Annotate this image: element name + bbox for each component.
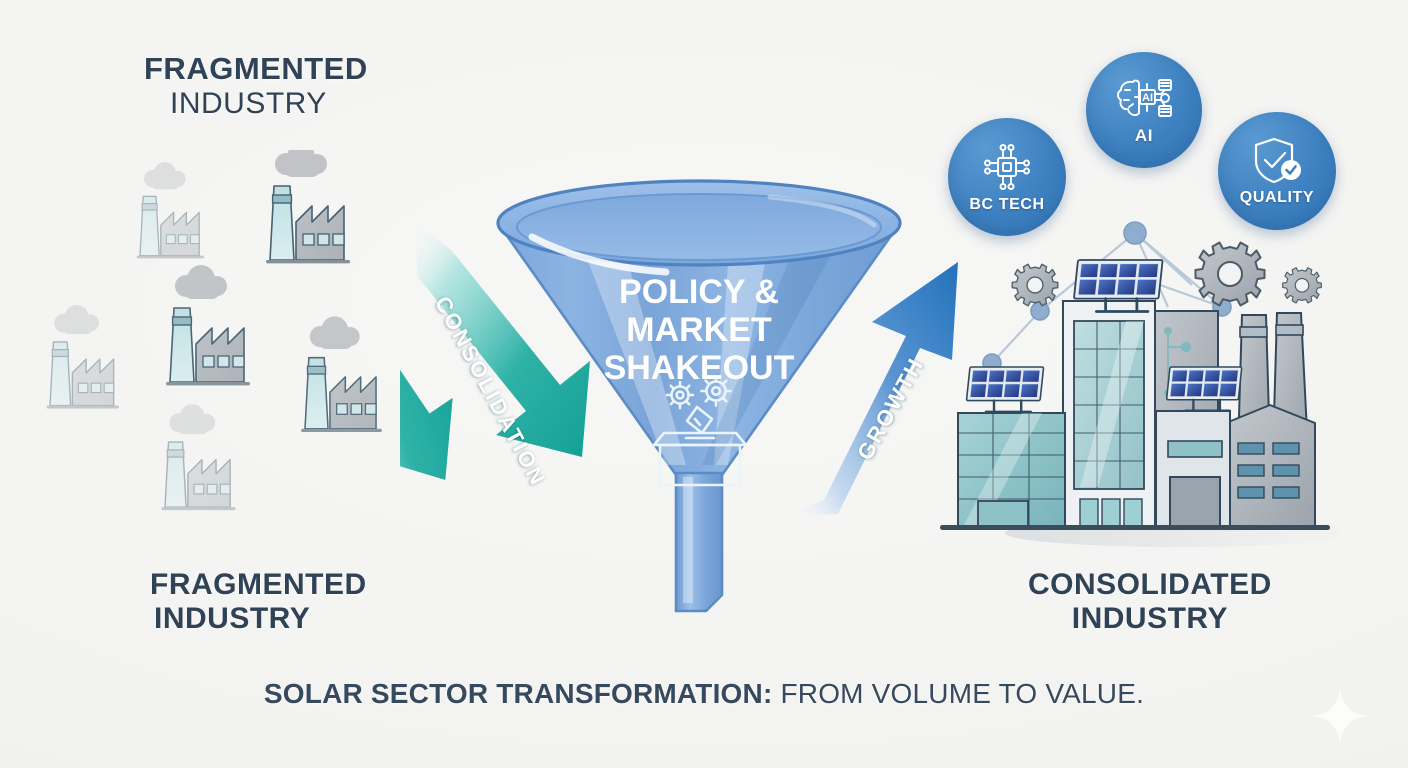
brain-ai-chip-icon: AI [1115,74,1173,124]
title-line-1: FRAGMENTED [144,52,368,87]
gear-icon [1283,268,1322,303]
gear-icon [1012,264,1058,306]
label-line-2: INDUSTRY [150,602,367,636]
badge-bc-tech[interactable]: BC TECH [948,118,1066,236]
badge-label: BC TECH [969,196,1044,214]
page-title-top-left: FRAGMENTED INDUSTRY [144,52,368,120]
title-line-2: INDUSTRY [144,87,368,121]
caption: SOLAR SECTOR TRANSFORMATION: FROM VOLUME… [0,678,1408,710]
four-point-sparkle [1310,686,1370,746]
label-fragmented-industry: FRAGMENTED INDUSTRY [150,568,367,635]
shield-check-icon [1250,135,1304,187]
badge-ai[interactable]: AI AI [1086,52,1202,168]
label-line-1: CONSOLIDATED [1028,568,1272,602]
factory-icon [161,404,235,510]
factory-icon [266,150,350,263]
svg-text:MARKET: MARKET [626,311,772,349]
badge-label: AI [1135,126,1153,146]
svg-text:AI: AI [1142,92,1153,104]
label-consolidated-industry: CONSOLIDATED INDUSTRY [1028,568,1272,635]
microchip-circuit-icon [981,141,1033,193]
infographic-canvas: CONSOLIDATION GROWTH [0,0,1408,768]
factory-icon [137,162,204,258]
svg-text:POLICY &: POLICY & [619,273,779,311]
badge-label: QUALITY [1240,189,1314,207]
caption-light: FROM VOLUME TO VALUE. [772,678,1144,709]
badge-quality[interactable]: QUALITY [1218,112,1336,230]
gear-icon [1196,243,1265,306]
label-line-1: FRAGMENTED [150,568,367,602]
caption-strong: SOLAR SECTOR TRANSFORMATION: [264,678,773,709]
label-line-2: INDUSTRY [1028,602,1272,636]
factory-icon [47,305,119,409]
svg-text:SHAKEOUT: SHAKEOUT [604,349,795,387]
consolidated-industry-illustration [930,215,1340,555]
funnel-graphic: POLICY & MARKET SHAKEOUT [470,175,930,625]
factory-icon [166,265,250,385]
fragmented-factories-illustration [40,150,440,540]
funnel-text-group: POLICY & MARKET SHAKEOUT [604,273,795,387]
factory-icon [301,316,382,432]
